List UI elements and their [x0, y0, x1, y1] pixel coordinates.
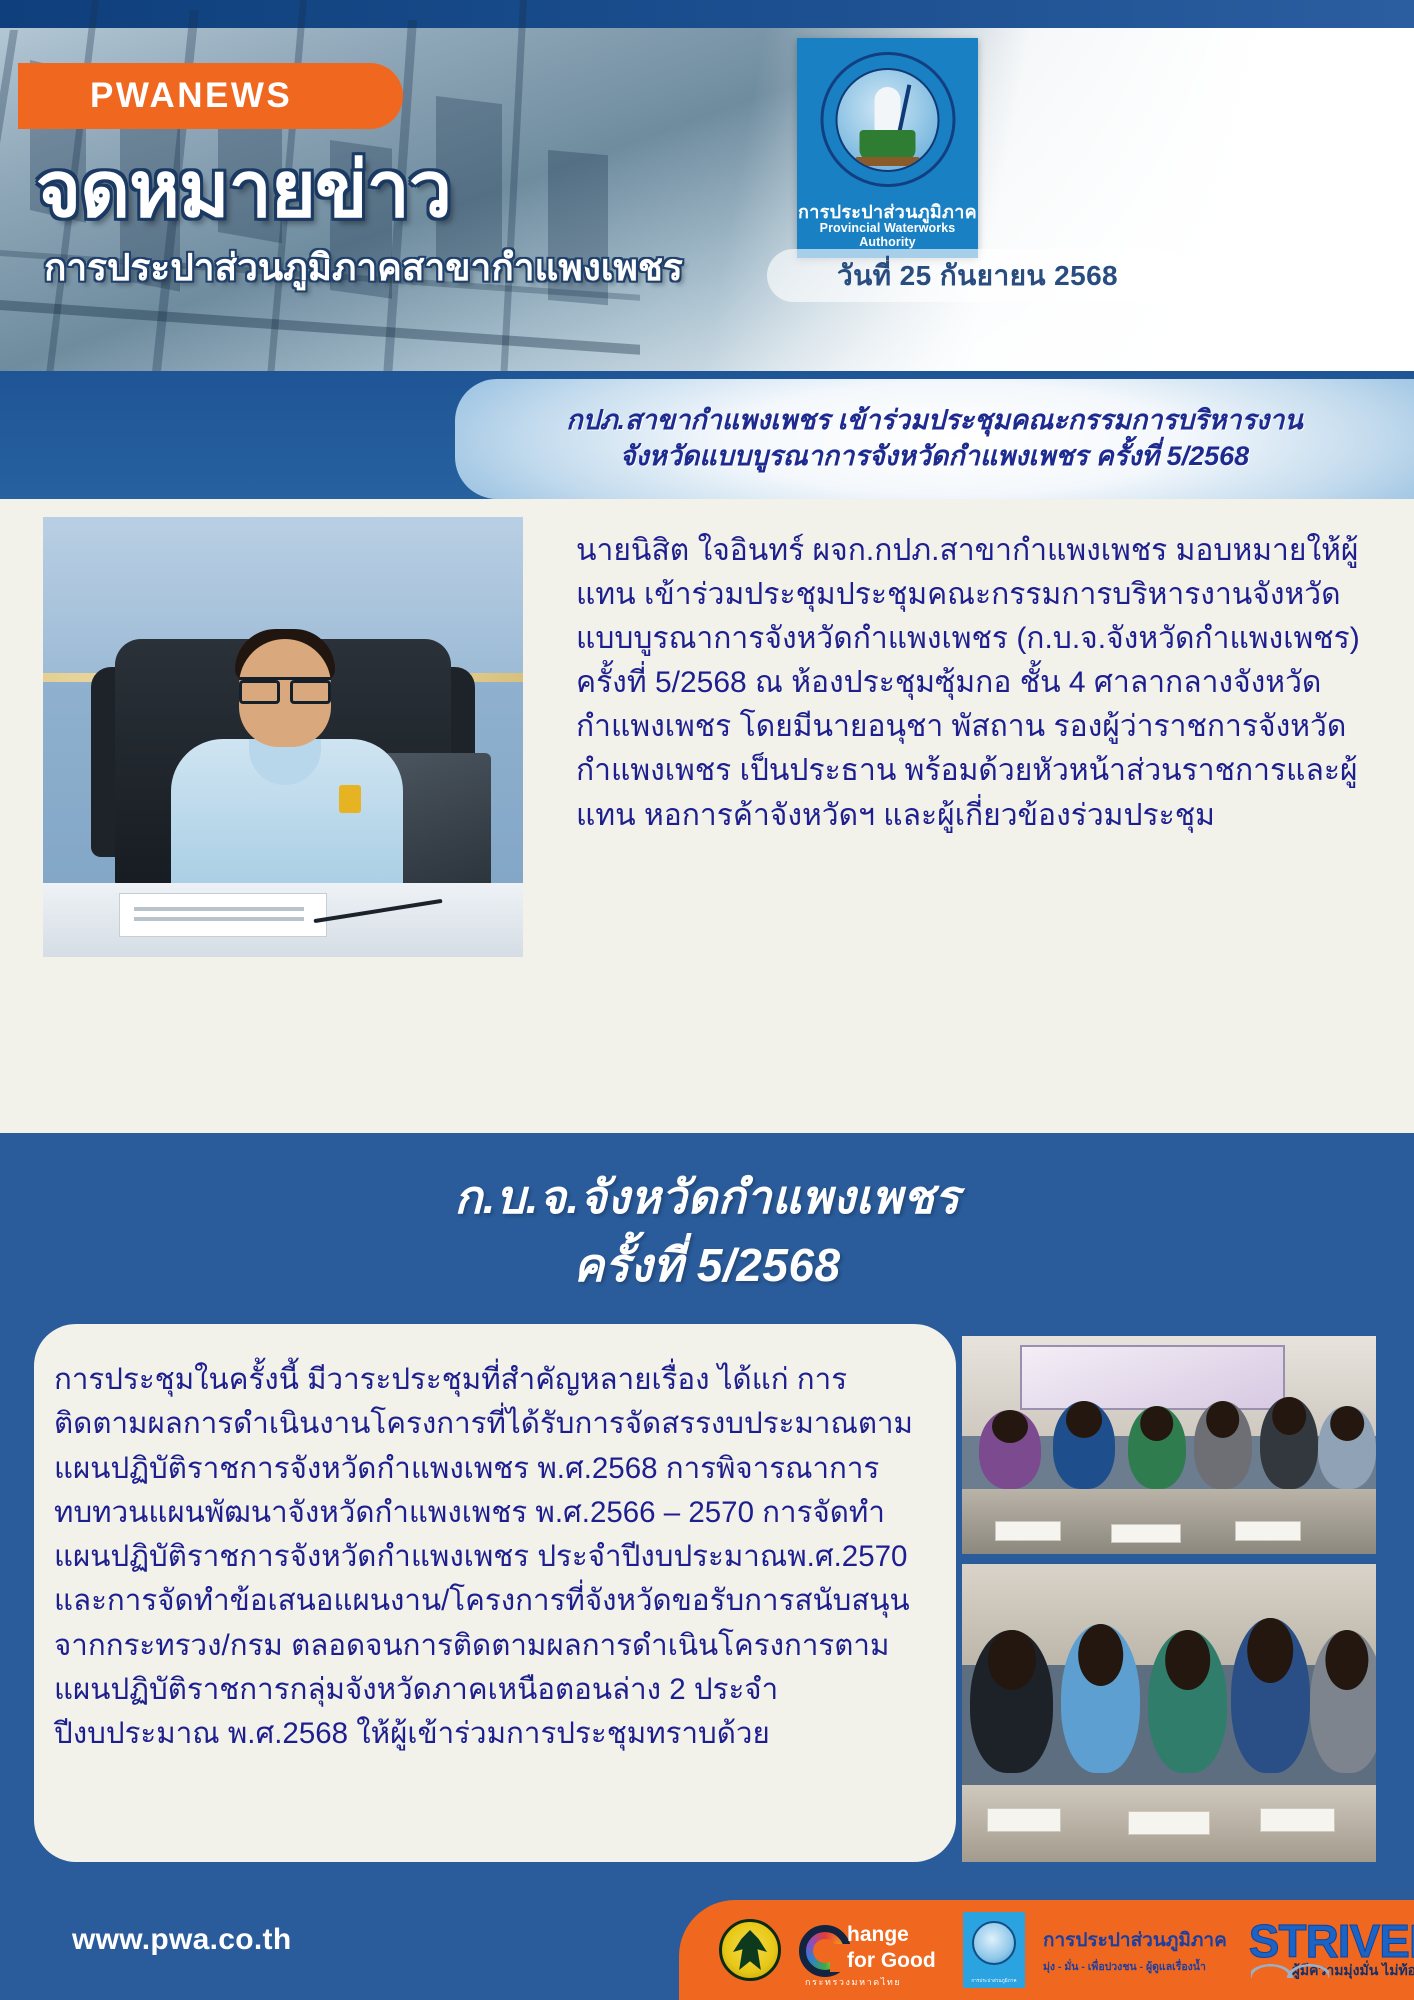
- footer-logo-strip: hange for Good กระทรวงมหาดไทย การประปาส่…: [679, 1900, 1414, 2000]
- section-banner-line-1: ก.บ.จ.จังหวัดกำแพงเพชร: [0, 1161, 1414, 1234]
- change-for-good-line-2: for Good: [847, 1949, 936, 1973]
- change-for-good-ring-icon: [799, 1925, 851, 1977]
- manager-portrait-photo: [43, 517, 523, 957]
- page-subtitle: การประปาส่วนภูมิภาคสาขากำแพงเพชร: [44, 238, 683, 297]
- meeting-photo-2: [962, 1564, 1376, 1862]
- striver-wordmark: STRIVER: [1249, 1918, 1414, 1964]
- change-for-good-subtitle: กระทรวงมหาดไทย: [805, 1975, 901, 1989]
- section-banner-line-2: ครั้งที่ 5/2568: [0, 1229, 1414, 1302]
- article-2-body: การประชุมในครั้งนี้ มีวาระประชุมที่สำคัญ…: [54, 1358, 940, 1756]
- change-for-good-logo: hange for Good กระทรวงมหาดไทย: [799, 1915, 945, 1985]
- meeting-photo-1: [962, 1336, 1376, 1554]
- striver-logo: STRIVER ผู้มีความมุ่งมั่น ไม่ท้อถอย: [1249, 1918, 1414, 1982]
- pwa-basin-base-icon: [856, 157, 920, 166]
- pwa-logo: การประปาส่วนภูมิภาค Provincial Waterwork…: [797, 38, 978, 258]
- pwa-logo-name-en: Provincial Waterworks Authority: [797, 221, 978, 249]
- article-1: นายนิสิต ใจอินทร์ ผจก.กปภ.สาขากำแพงเพชร …: [0, 499, 1414, 1133]
- article-1-body: นายนิสิต ใจอินทร์ ผจก.กปภ.สาขากำแพงเพชร …: [576, 529, 1386, 838]
- section-banner: ก.บ.จ.จังหวัดกำแพงเพชร ครั้งที่ 5/2568: [0, 1133, 1414, 1312]
- pwa-footer-name-th: การประปาส่วนภูมิภาค: [1043, 1925, 1227, 1955]
- header-banner: PWANEWS จดหมายข่าว การประปาส่วนภูมิภาคสา…: [0, 0, 1414, 371]
- headline-line-1: กปภ.สาขากำแพงเพชร เข้าร่วมประชุมคณะกรรมก…: [566, 403, 1303, 439]
- pwanews-label: PWANEWS: [90, 76, 292, 116]
- pwa-seal-inner: [836, 68, 940, 172]
- newsletter-page: PWANEWS จดหมายข่าว การประปาส่วนภูมิภาคสา…: [0, 0, 1414, 2000]
- page-title: จดหมายข่าว: [36, 128, 451, 250]
- change-for-good-line-1: hange: [847, 1923, 909, 1947]
- headline-line-2: จังหวัดแบบบูรณาการจังหวัดกำแพงเพชร ครั้ง…: [620, 439, 1249, 475]
- article-2-card: การประชุมในครั้งนี้ มีวาระประชุมที่สำคัญ…: [34, 1324, 956, 1862]
- pwa-footer-name: การประปาส่วนภูมิภาค มุ่ง - มั่น - เพื่อป…: [1043, 1925, 1227, 1975]
- pwanews-badge: PWANEWS: [18, 63, 403, 129]
- pwa-footer-badge-icon: การประปาส่วนภูมิภาค: [963, 1912, 1025, 1988]
- striver-waves-icon: [1251, 1962, 1329, 1978]
- footer-website-link[interactable]: www.pwa.co.th: [72, 1923, 291, 1957]
- pwa-footer-slogan: มุ่ง - มั่น - เพื่อปวงชน - ผู้ดูแลเรื่อง…: [1043, 1958, 1227, 1975]
- garuda-emblem-icon: [719, 1919, 781, 1981]
- headline-card: กปภ.สาขากำแพงเพชร เข้าร่วมประชุมคณะกรรมก…: [455, 379, 1414, 499]
- footer: www.pwa.co.th hange for Good กระทรวงมหาด…: [0, 1875, 1414, 2000]
- pwa-footer-badge-caption: การประปาส่วนภูมิภาค: [963, 1978, 1025, 1984]
- pwa-seal-icon: [820, 52, 955, 187]
- date-badge: วันที่ 25 กันยายน 2568: [767, 249, 1188, 302]
- pwa-basin-icon: [860, 130, 916, 160]
- article-2: การประชุมในครั้งนี้ มีวาระประชุมที่สำคัญ…: [0, 1312, 1414, 1875]
- date-label: วันที่ 25 กันยายน 2568: [837, 254, 1118, 298]
